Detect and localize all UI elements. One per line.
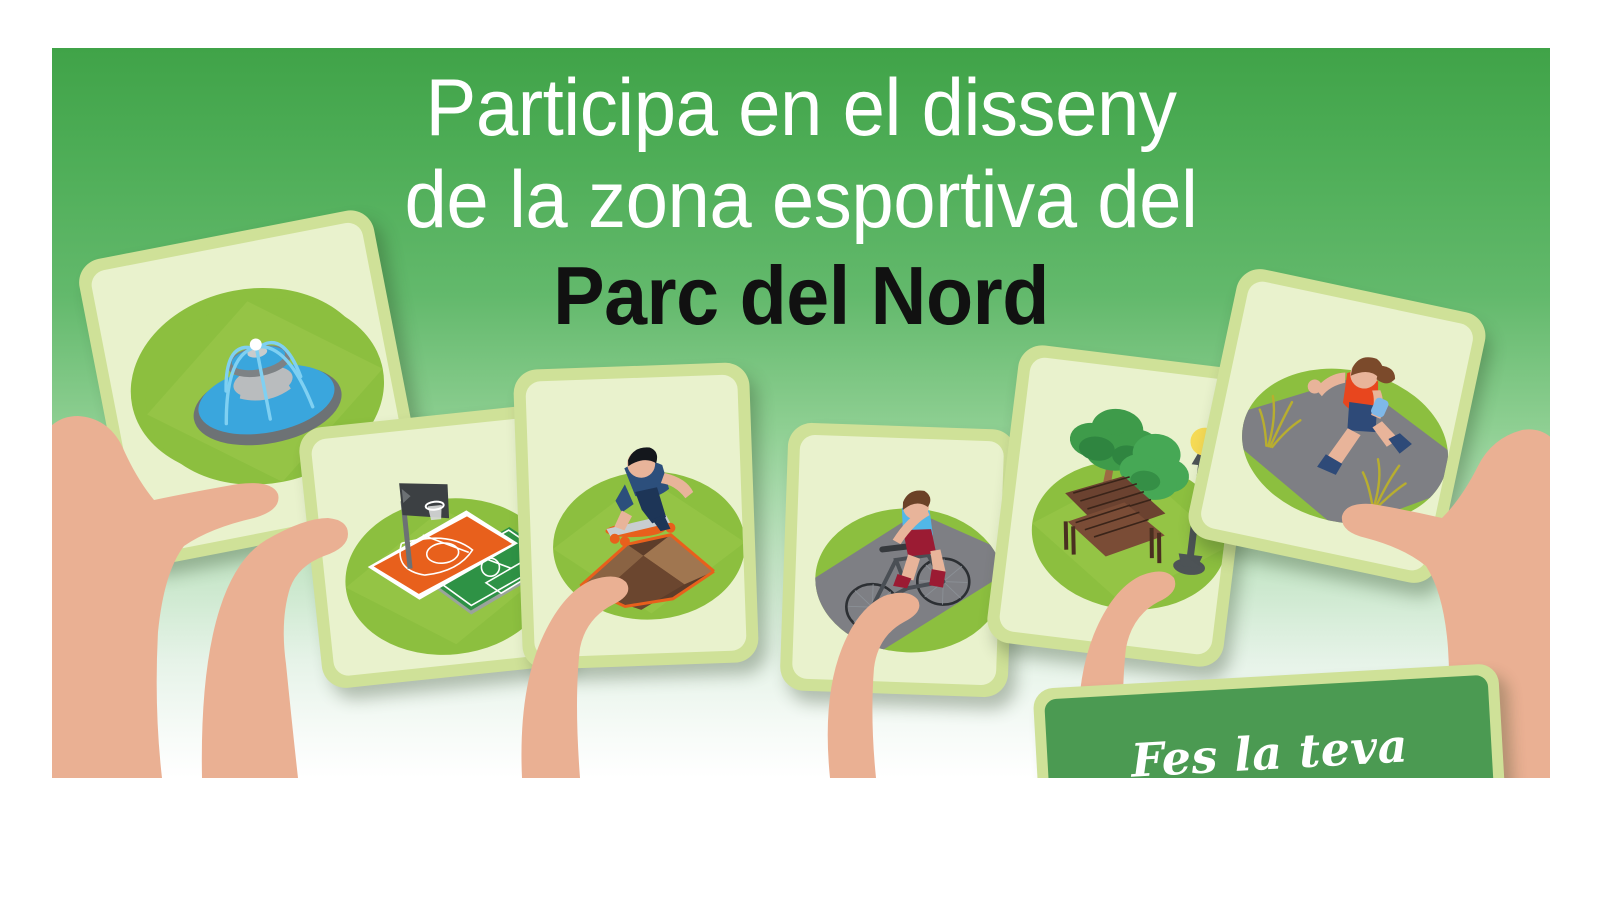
card-skatepark[interactable] <box>513 362 759 670</box>
footer-bar: Ajuntament de Sabadell Hi col·labora: Di… <box>0 778 1600 900</box>
card-face <box>792 435 1004 686</box>
card-bike-path[interactable] <box>779 422 1016 698</box>
card-face <box>1198 279 1475 573</box>
runner-icon <box>1198 279 1475 573</box>
cyclist-icon <box>792 435 1004 686</box>
skateboarder-icon <box>525 374 747 657</box>
card-running-path[interactable] <box>1184 265 1490 588</box>
hero-panel <box>52 48 1550 778</box>
poster-canvas: Participa en el disseny de la zona espor… <box>0 0 1600 900</box>
card-face <box>525 374 747 657</box>
